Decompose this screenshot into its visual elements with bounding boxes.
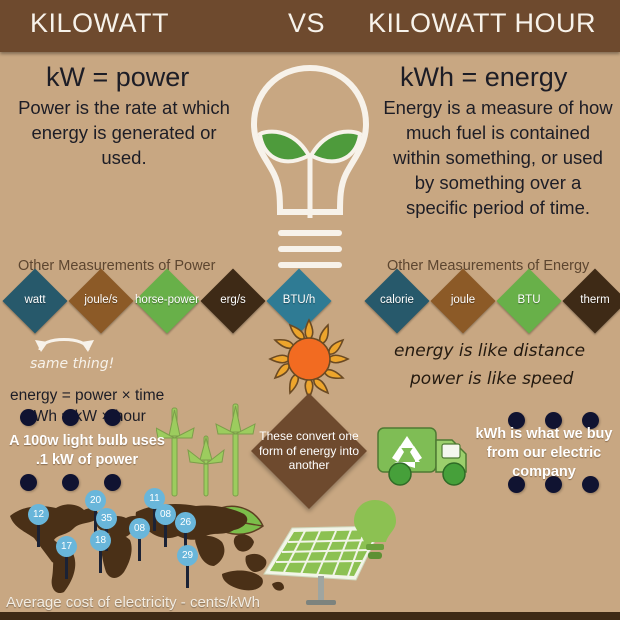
pin-value: 08: [129, 518, 150, 539]
double-arrow-icon: [32, 330, 102, 358]
power-units-heading: Other Measurements of Power: [18, 258, 215, 274]
unit-diamond-therm[interactable]: therm: [562, 268, 620, 333]
unit-label: watt: [2, 278, 68, 324]
unit-label: erg/s: [200, 278, 266, 324]
callout-light-bulb: A 100w light bulb uses .1 kW of power: [4, 432, 170, 470]
unit-label: therm: [562, 278, 620, 324]
world-map: 12 17 20 35 18 08 11 08 26 29: [0, 488, 300, 598]
recycling-truck-icon: [374, 414, 478, 494]
header-bar: KILOWATT VS KILOWATT HOUR: [0, 0, 620, 52]
unit-diamond-erg-s[interactable]: erg/s: [200, 268, 265, 333]
right-column-title: kWh = energy: [400, 62, 567, 93]
pin-value: 29: [177, 545, 198, 566]
header-title-vs: VS: [288, 8, 325, 39]
unit-label: calorie: [364, 278, 430, 324]
header-title-right: KILOWATT HOUR: [368, 8, 596, 39]
power-speed-annotation: power is like speed: [410, 369, 573, 389]
pin-value: 08: [155, 504, 176, 525]
formula-kwh: kWh = kW × hour: [26, 408, 146, 426]
left-column-title: kW = power: [46, 62, 189, 93]
unit-diamond-joule[interactable]: joule: [430, 268, 495, 333]
center-diamond-text: These convert one form of energy into an…: [249, 410, 369, 492]
unit-diamond-watt[interactable]: watt: [2, 268, 67, 333]
header-title-left: KILOWATT: [30, 8, 169, 39]
unit-label: joule: [430, 278, 496, 324]
infographic-canvas: KILOWATT VS KILOWATT HOUR kW = power Pow…: [0, 0, 620, 620]
decorative-dot: [20, 409, 37, 426]
unit-diamond-joule-s[interactable]: joule/s: [68, 268, 133, 333]
pin-value: 35: [96, 508, 117, 529]
right-column-body: Energy is a measure of how much fuel is …: [382, 95, 614, 220]
sun-icon: [268, 318, 350, 400]
unit-label: BTU: [496, 278, 562, 324]
decorative-dot: [62, 409, 79, 426]
energy-distance-annotation: energy is like distance: [394, 341, 585, 361]
unit-diamond-btu[interactable]: BTU: [496, 268, 561, 333]
green-lightbulb-icon: [352, 498, 398, 564]
unit-label: joule/s: [68, 278, 134, 324]
pin-value: 18: [90, 530, 111, 551]
unit-diamond-horsepower[interactable]: horse-power: [134, 268, 199, 333]
bottom-bar: [0, 612, 620, 620]
left-column-body: Power is the rate at which energy is gen…: [10, 95, 238, 170]
unit-diamond-calorie[interactable]: calorie: [364, 268, 429, 333]
lightbulb-with-leaves-icon: [246, 58, 374, 283]
pin-value: 17: [56, 536, 77, 557]
same-thing-annotation: same thing!: [30, 356, 114, 372]
energy-units-heading: Other Measurements of Energy: [387, 258, 589, 274]
callout-electric-company: kWh is what we buy from our electric com…: [472, 425, 616, 482]
unit-label: horse-power: [134, 278, 200, 324]
map-caption: Average cost of electricity - cents/kWh: [6, 594, 260, 611]
decorative-dot: [104, 409, 121, 426]
pin-value: 26: [175, 512, 196, 533]
pin-value: 12: [28, 504, 49, 525]
formula-energy: energy = power × time: [10, 387, 164, 405]
